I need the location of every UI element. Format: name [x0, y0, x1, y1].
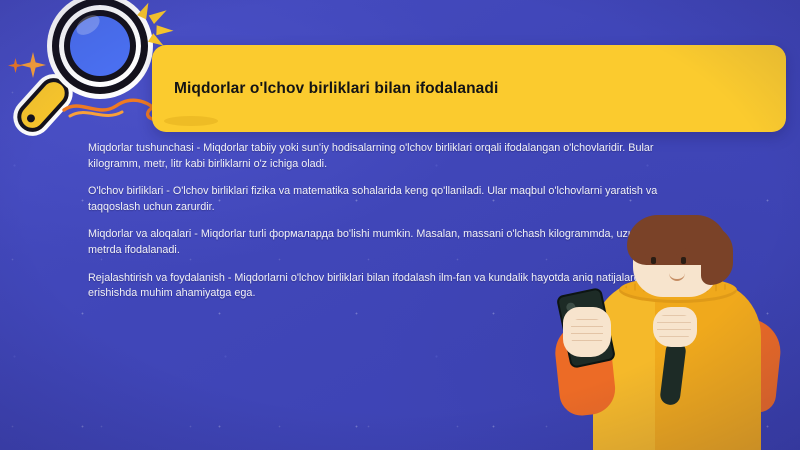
- paragraph-2: O'lchov birliklari - O'lchov birliklari …: [88, 184, 673, 215]
- character-eye-right: [681, 257, 686, 264]
- person-with-phone-illustration: [541, 215, 800, 450]
- character-bangs: [633, 239, 689, 255]
- slide-canvas: Miqdorlar o'lchov birliklari bilan ifoda…: [0, 0, 800, 450]
- character-left-hand: [563, 307, 611, 357]
- sparkle-star-small-icon: [8, 58, 23, 73]
- page-title: Miqdorlar o'lchov birliklari bilan ifoda…: [174, 80, 498, 98]
- sparkle-star-icon: [20, 52, 46, 78]
- character-eye-left: [651, 257, 656, 264]
- title-card: Miqdorlar o'lchov birliklari bilan ifoda…: [152, 45, 786, 132]
- character-right-hand: [653, 307, 697, 347]
- ray-3: [156, 25, 173, 36]
- ray-2: [149, 6, 170, 24]
- paragraph-1: Miqdorlar tushunchasi - Miqdorlar tabiiy…: [88, 141, 673, 172]
- yellow-rays-icon: [134, 0, 180, 50]
- character-hair-side: [701, 225, 733, 285]
